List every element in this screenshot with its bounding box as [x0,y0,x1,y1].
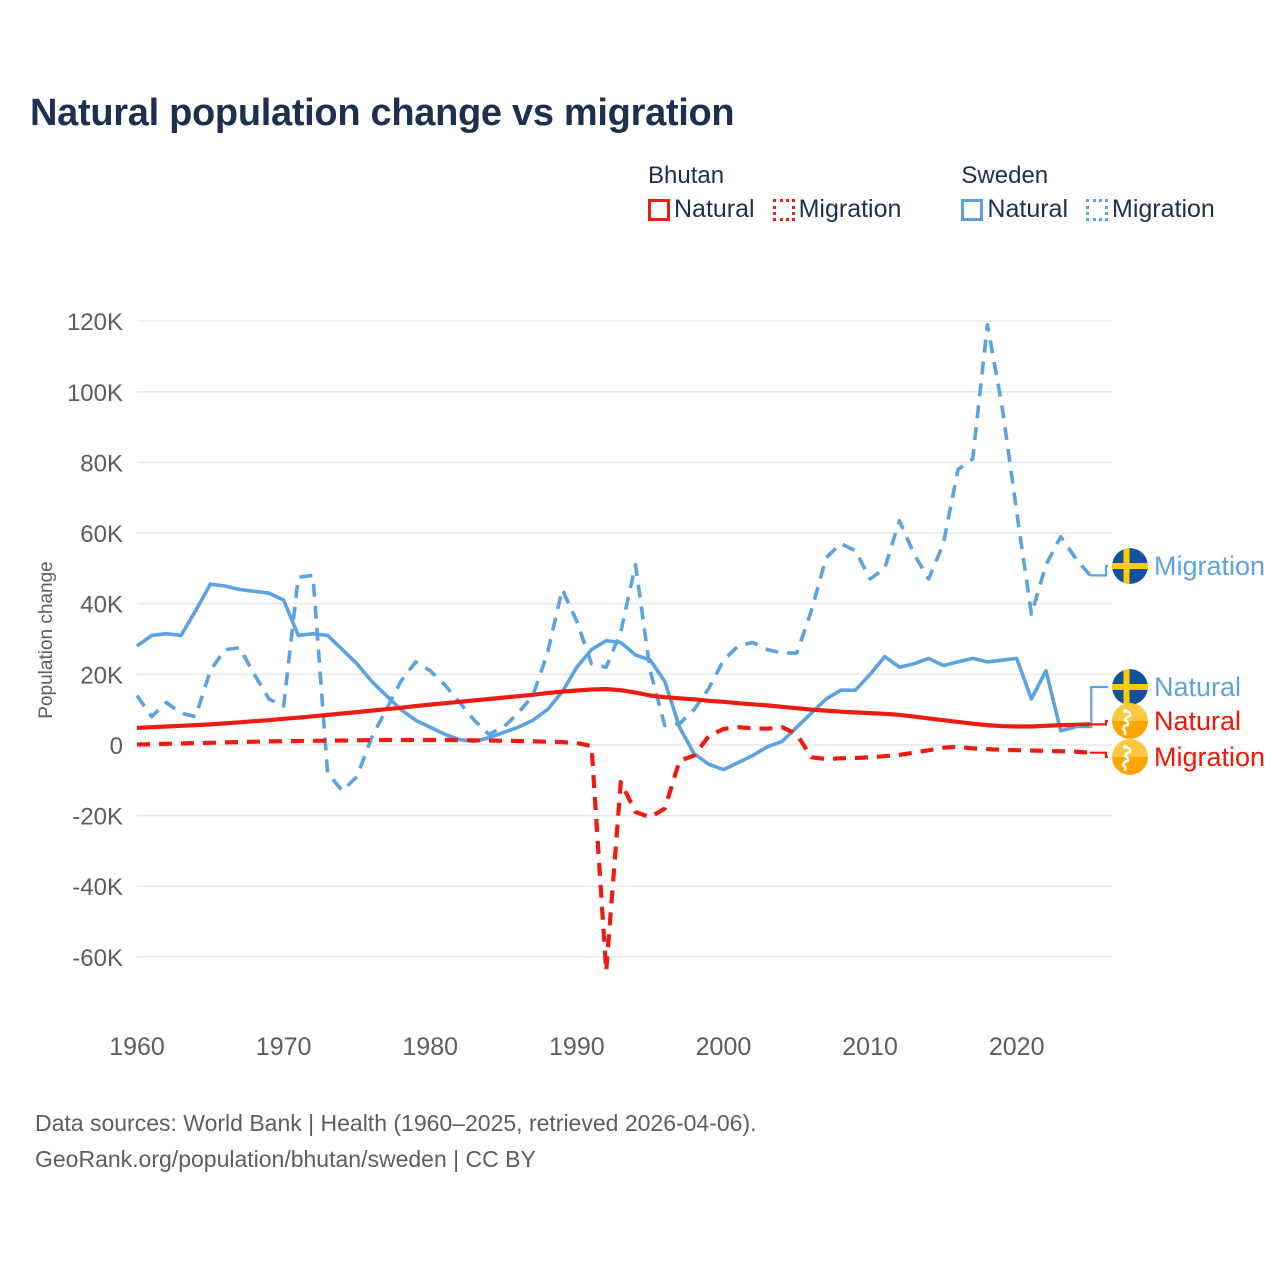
chart-svg: -60K-40K-20K020K40K60K80K100K120K 196019… [0,0,1280,1280]
leader-line-sweden-natural [1075,687,1108,727]
leader-line-sweden-migration [1090,566,1108,575]
y-tick-label: -20K [72,804,123,831]
series-line-bhutan-migration [137,727,1090,971]
chart-plot-area: -60K-40K-20K020K40K60K80K100K120K 196019… [0,0,1280,1280]
y-tick-label: 120K [67,309,123,336]
x-tick-label: 1980 [402,1033,458,1061]
y-tick-label: -40K [72,874,123,901]
chart-label-leader-lines [1075,566,1108,757]
x-tick-label: 1960 [109,1033,165,1061]
y-tick-label: 100K [67,380,123,407]
y-tick-label: 40K [80,592,123,619]
x-tick-label: 2010 [842,1033,898,1061]
y-tick-label: 80K [80,450,123,477]
end-label-sweden-natural[interactable]: Natural [1112,669,1241,705]
x-tick-label: 2000 [696,1033,752,1061]
bhutan-flag-icon [1112,703,1148,739]
end-label-text: Migration [1154,551,1265,582]
chart-gridlines [137,321,1112,957]
footer-line-url: GeoRank.org/population/bhutan/sweden | C… [35,1142,757,1178]
y-tick-label: 0 [110,733,123,760]
footer-credits: Data sources: World Bank | Health (1960–… [35,1106,757,1177]
leader-line-bhutan-migration [1090,753,1108,757]
y-tick-label: 60K [80,521,123,548]
chart-y-axis-ticks: -60K-40K-20K020K40K60K80K100K120K [67,309,123,972]
y-axis-label: Population change [36,561,57,718]
y-tick-label: -60K [72,945,123,972]
y-tick-label: 20K [80,662,123,689]
end-label-text: Natural [1154,706,1241,737]
series-line-bhutan-natural [137,689,1090,728]
chart-series-lines [137,325,1090,971]
sweden-flag-icon [1112,669,1148,705]
end-label-bhutan-migration[interactable]: Migration [1112,739,1265,775]
sweden-flag-icon [1112,548,1148,584]
x-tick-label: 2020 [989,1033,1045,1061]
x-tick-label: 1970 [256,1033,312,1061]
footer-line-data-sources: Data sources: World Bank | Health (1960–… [35,1106,757,1142]
leader-line-bhutan-natural [1090,721,1108,724]
end-label-sweden-migration[interactable]: Migration [1112,548,1265,584]
bhutan-flag-icon [1112,739,1148,775]
end-label-bhutan-natural[interactable]: Natural [1112,703,1241,739]
end-label-text: Migration [1154,742,1265,773]
chart-x-axis-ticks: 1960197019801990200020102020 [109,1033,1044,1061]
x-tick-label: 1990 [549,1033,605,1061]
end-label-text: Natural [1154,672,1241,703]
